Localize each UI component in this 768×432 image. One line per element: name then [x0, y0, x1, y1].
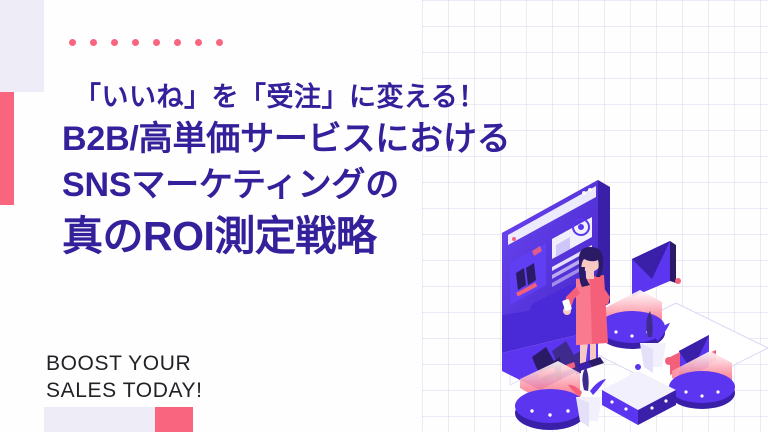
rule-dot — [111, 39, 118, 46]
slide-canvas: 「いいね」を「受注」に変える！ B2B/高単価サービスにおける SNSマーケティ… — [0, 0, 768, 432]
rule-dot — [174, 39, 181, 46]
pink-bar-left — [0, 92, 14, 205]
cta-line-2: SALES TODAY! — [46, 377, 203, 404]
headline-line-2: B2B/高単価サービスにおける — [62, 116, 634, 162]
pink-block-bottom-left — [155, 407, 193, 432]
rule-dot — [216, 39, 223, 46]
lavender-block-top-left — [0, 0, 44, 92]
rule-dot — [90, 39, 97, 46]
headline-kicker: 「いいね」を「受注」に変える！ — [74, 78, 634, 116]
rule-dot — [153, 39, 160, 46]
isometric-ecommerce-marketing-illustration — [480, 175, 768, 432]
envelope-icon — [632, 241, 681, 297]
rule-dot — [195, 39, 202, 46]
cta-text: BOOST YOUR SALES TODAY! — [46, 350, 203, 404]
rule-dot — [132, 39, 139, 46]
cta-line-1: BOOST YOUR — [46, 350, 203, 377]
dotted-rule — [69, 39, 223, 46]
rule-dot — [69, 39, 76, 46]
